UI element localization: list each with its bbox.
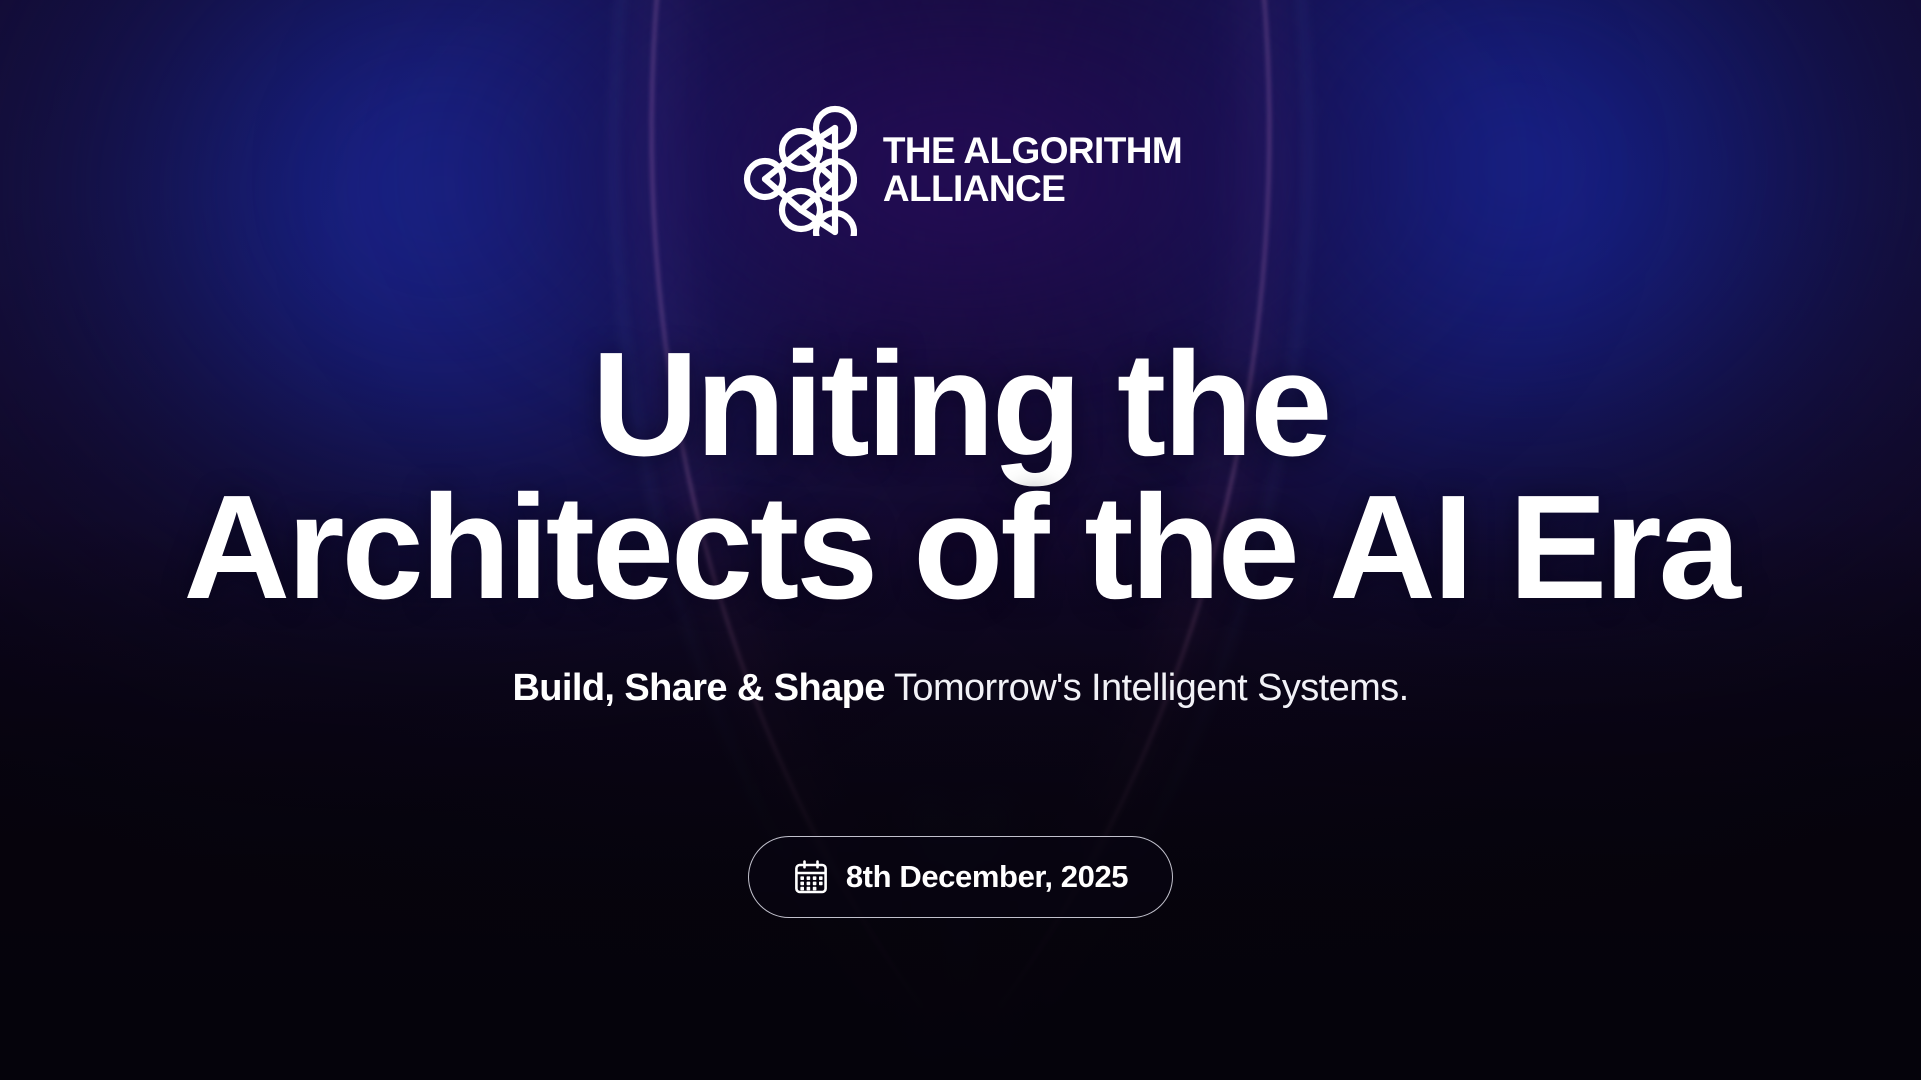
- brand-logo-lockup: THE ALGORITHM ALLIANCE: [739, 104, 1182, 236]
- headline-line-1: Uniting the: [183, 332, 1737, 479]
- brand-wordmark: THE ALGORITHM ALLIANCE: [883, 132, 1182, 209]
- page-title: Uniting the Architects of the AI Era: [183, 332, 1737, 621]
- network-nodes-icon: [739, 104, 857, 236]
- headline-line-2: Architects of the AI Era: [183, 475, 1737, 622]
- subtitle-emphasis: Build, Share & Shape: [512, 667, 884, 709]
- brand-wordmark-line-1: THE ALGORITHM: [883, 132, 1182, 170]
- subtitle-rest: Tomorrow's Intelligent Systems.: [885, 667, 1409, 709]
- hero-slide: THE ALGORITHM ALLIANCE Uniting the Archi…: [0, 0, 1921, 1080]
- slide-content: THE ALGORITHM ALLIANCE Uniting the Archi…: [0, 0, 1921, 1080]
- calendar-icon: [793, 859, 829, 895]
- subtitle: Build, Share & Shape Tomorrow's Intellig…: [512, 667, 1408, 710]
- brand-wordmark-line-2: ALLIANCE: [883, 170, 1182, 208]
- event-date-badge[interactable]: 8th December, 2025: [748, 836, 1173, 918]
- event-date-label: 8th December, 2025: [846, 859, 1128, 895]
